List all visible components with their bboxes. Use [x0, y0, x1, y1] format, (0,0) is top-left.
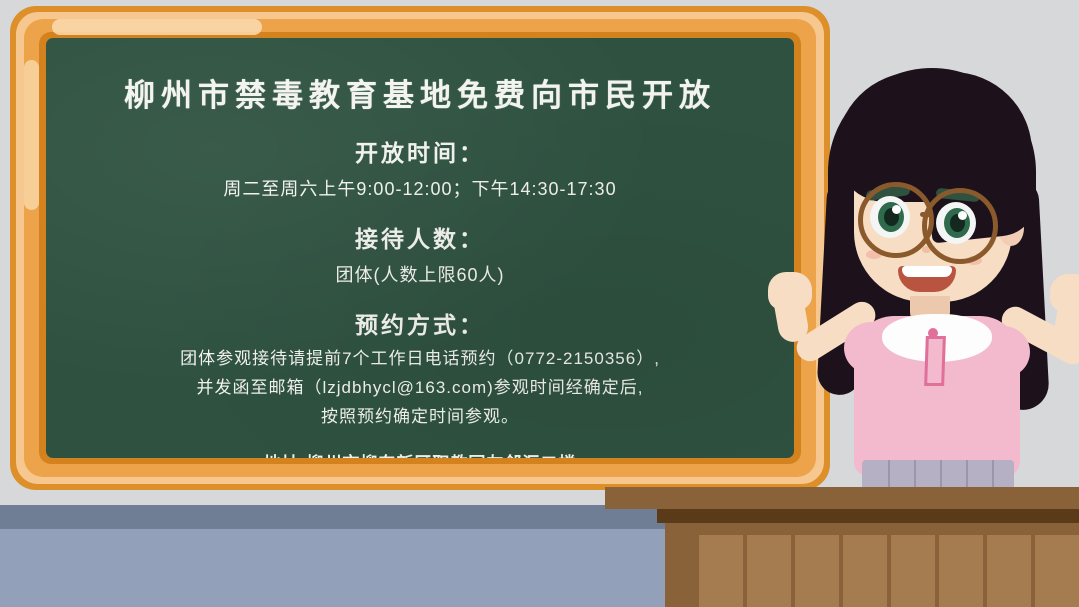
podium-plank — [987, 535, 1031, 607]
podium-plank — [747, 535, 791, 607]
section-heading-capacity: 接待人数： — [64, 220, 776, 254]
blackboard-content: 柳州市禁毒教育基地免费向市民开放 开放时间： 周二至周六上午9:00-12:00… — [46, 38, 794, 458]
podium-plank — [939, 535, 983, 607]
blackboard-surface: 柳州市禁毒教育基地免费向市民开放 开放时间： 周二至周六上午9:00-12:00… — [46, 38, 794, 458]
blackboard: 柳州市禁毒教育基地免费向市民开放 开放时间： 周二至周六上午9:00-12:00… — [10, 6, 830, 490]
section-heading-hours: 开放时间： — [64, 134, 776, 168]
opening-hours-line: 周二至周六上午9:00-12:00；下午14:30-17:30 — [64, 175, 776, 201]
frame-gloss-top — [52, 19, 262, 35]
hand-right — [1050, 274, 1079, 312]
reservation-line-1: 团体参观接待请提前7个工作日电话预约（0772-2150356）, — [64, 344, 776, 369]
podium-plank — [843, 535, 887, 607]
capacity-line: 团体(人数上限60人) — [64, 261, 776, 287]
glasses-bridge — [920, 212, 932, 217]
reservation-line-2: 并发函至邮箱（lzjdbhycl@163.com)参观时间经确定后, — [64, 373, 776, 398]
podium-plank — [699, 535, 743, 607]
podium-plank — [795, 535, 839, 607]
podium-plank — [891, 535, 935, 607]
podium-lip — [657, 509, 1079, 523]
section-heading-reservation: 预约方式： — [64, 306, 776, 340]
ribbon-knot — [928, 328, 938, 338]
podium-top — [605, 487, 1079, 509]
glasses-lens-right-icon — [922, 188, 998, 264]
teeth — [902, 266, 952, 277]
frame-gloss-left — [24, 60, 39, 210]
cartoon-girl — [770, 60, 1079, 507]
ribbon-tie — [924, 336, 946, 386]
address-line: 地址:柳州市柳东新区职教园友邻汇二楼 — [64, 449, 776, 458]
hand-left — [768, 272, 812, 310]
page-title: 柳州市禁毒教育基地免费向市民开放 — [64, 70, 776, 115]
classroom-scene: 柳州市禁毒教育基地免费向市民开放 开放时间： 周二至周六上午9:00-12:00… — [0, 0, 1079, 607]
reservation-line-3: 按照预约确定时间参观。 — [64, 402, 776, 427]
podium-plank — [1035, 535, 1079, 607]
